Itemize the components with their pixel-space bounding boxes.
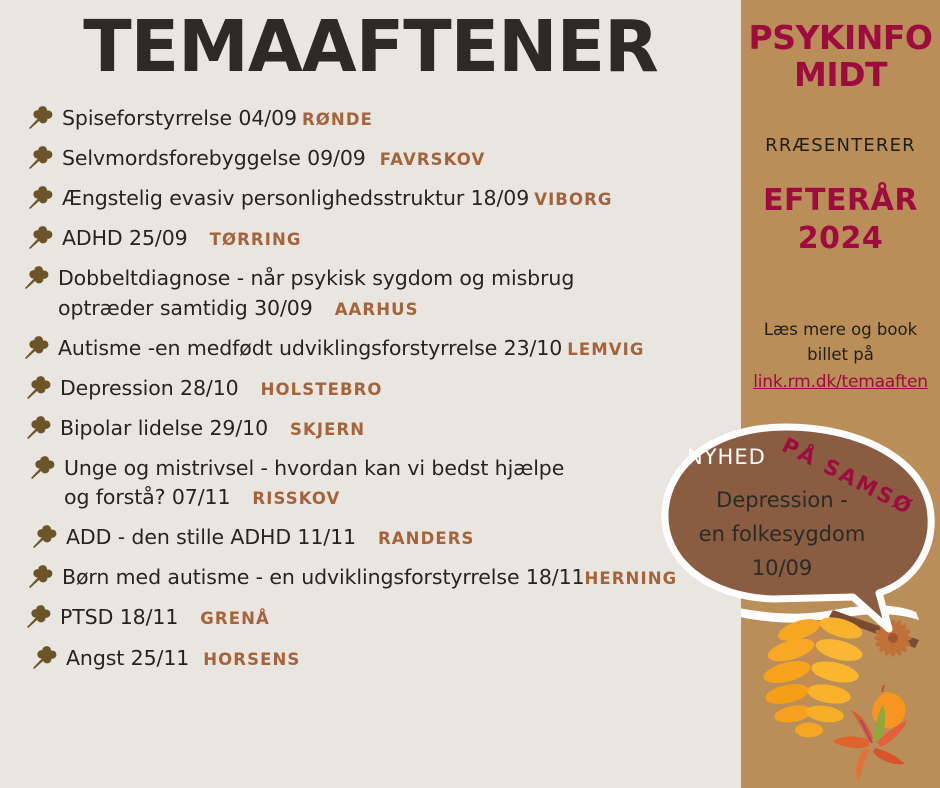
event-title: ADD - den stille ADHD 11/11: [66, 525, 356, 549]
event-title: PTSD 18/11: [60, 605, 178, 629]
pushpin-icon: [30, 523, 60, 549]
season-title: EFTERÅR 2024: [741, 182, 940, 257]
event-city: GRENÅ: [200, 609, 270, 628]
event-list-item[interactable]: Autisme -en medfødt udviklingsforstyrrel…: [22, 333, 741, 363]
event-title: Autisme -en medfødt udviklingsforstyrrel…: [58, 336, 562, 360]
event-title-continued: optræder samtidig 30/09: [58, 296, 313, 320]
event-text: Angst 25/11HORSENS: [66, 643, 300, 673]
event-title: Børn med autisme - en udviklingsforstyrr…: [62, 565, 584, 589]
pushpin-icon: [26, 563, 56, 589]
event-text: Dobbeltdiagnose - når psykisk sygdom og …: [58, 263, 574, 322]
pushpin-icon: [22, 334, 52, 360]
event-list-item[interactable]: PTSD 18/11GRENÅ: [24, 602, 741, 632]
booking-line-2: billet på: [807, 345, 874, 364]
brand-title: PSYKINFO MIDT: [741, 20, 940, 94]
event-title: Dobbeltdiagnose - når psykisk sygdom og …: [58, 266, 574, 290]
news-speech-bubble: NYHED Depression - en folkesygdom 10/09 …: [657, 421, 940, 646]
bubble-line-2: en folkesygdom: [667, 517, 897, 551]
booking-link[interactable]: link.rm.dk/temaaften: [747, 370, 934, 396]
event-text: ADHD 25/09TØRRING: [62, 223, 302, 253]
event-list-item[interactable]: ADHD 25/09TØRRING: [26, 223, 741, 253]
event-list-item[interactable]: Unge og mistrivsel - hvordan kan vi beds…: [28, 453, 741, 512]
season-label: EFTERÅR: [763, 183, 918, 218]
event-title-line-2: optræder samtidig 30/09AARHUS: [58, 294, 574, 323]
event-text: PTSD 18/11GRENÅ: [60, 602, 270, 632]
event-city: RØNDE: [302, 110, 373, 129]
pushpin-icon: [26, 144, 56, 170]
event-text: Autisme -en medfødt udviklingsforstyrrel…: [58, 333, 645, 363]
booking-line-1: Læs mere og book: [764, 320, 917, 339]
pushpin-icon: [24, 414, 54, 440]
bubble-line-3: 10/09: [667, 551, 897, 585]
event-text: Bipolar lidelse 29/10SKJERN: [60, 413, 365, 443]
event-city: LEMVIG: [567, 340, 644, 359]
brand-line-2: MIDT: [741, 57, 940, 94]
event-list-item[interactable]: Depression 28/10HOLSTEBRO: [24, 373, 741, 403]
bubble-body-text: Depression - en folkesygdom 10/09: [667, 483, 897, 585]
event-title: Spiseforstyrrelse 04/09: [62, 106, 297, 130]
event-city: HOLSTEBRO: [261, 380, 383, 399]
event-text: Ængstelig evasiv personlighedsstruktur 1…: [62, 183, 613, 213]
event-city: RISSKOV: [252, 489, 340, 508]
event-list-item[interactable]: ADD - den stille ADHD 11/11RANDERS: [30, 522, 741, 552]
booking-info: Læs mere og book billet på link.rm.dk/te…: [747, 318, 934, 395]
event-title: ADHD 25/09: [62, 226, 188, 250]
brand-line-1: PSYKINFO: [749, 18, 933, 57]
event-title-continued: og forstå? 07/11: [64, 485, 230, 509]
event-title: Depression 28/10: [60, 376, 239, 400]
pushpin-icon: [24, 374, 54, 400]
sidebar-panel: PSYKINFO MIDT RRÆSENTERER EFTERÅR 2024 L…: [741, 0, 940, 788]
pushpin-icon: [28, 454, 58, 480]
pushpin-icon: [22, 264, 52, 290]
event-city: RANDERS: [378, 529, 475, 548]
event-title-line-2: og forstå? 07/11RISSKOV: [64, 483, 564, 512]
pushpin-icon: [26, 104, 56, 130]
event-list-item[interactable]: Selvmordsforebyggelse 09/09FAVRSKOV: [26, 143, 741, 173]
event-title: Bipolar lidelse 29/10: [60, 416, 268, 440]
event-list-item[interactable]: Spiseforstyrrelse 04/09RØNDE: [26, 103, 741, 133]
page-title: TEMAAFTENER: [0, 11, 741, 82]
pushpin-icon: [30, 644, 60, 670]
event-city: TØRRING: [210, 230, 302, 249]
event-text: ADD - den stille ADHD 11/11RANDERS: [66, 522, 475, 552]
event-text: Selvmordsforebyggelse 09/09FAVRSKOV: [62, 143, 485, 173]
event-list-item[interactable]: Ængstelig evasiv personlighedsstruktur 1…: [26, 183, 741, 213]
event-city: FAVRSKOV: [380, 150, 486, 169]
event-text: Depression 28/10HOLSTEBRO: [60, 373, 383, 403]
event-list-item[interactable]: Børn med autisme - en udviklingsforstyrr…: [26, 562, 741, 592]
event-city: HORSENS: [203, 650, 300, 669]
event-title: Unge og mistrivsel - hvordan kan vi beds…: [64, 456, 564, 480]
event-list-item[interactable]: Bipolar lidelse 29/10SKJERN: [24, 413, 741, 443]
pushpin-icon: [26, 184, 56, 210]
presents-label: RRÆSENTERER: [741, 135, 940, 156]
poster-canvas: TEMAAFTENER Spiseforstyrrelse 04/09RØNDE…: [0, 0, 940, 788]
event-title: Selvmordsforebyggelse 09/09: [62, 146, 366, 170]
event-city: AARHUS: [335, 300, 419, 319]
news-badge: NYHED: [687, 445, 766, 469]
event-title: Ængstelig evasiv personlighedsstruktur 1…: [62, 186, 529, 210]
season-year: 2024: [741, 220, 940, 258]
event-text: Spiseforstyrrelse 04/09RØNDE: [62, 103, 373, 133]
event-text: Unge og mistrivsel - hvordan kan vi beds…: [64, 453, 564, 512]
pushpin-icon: [24, 603, 54, 629]
event-list: Spiseforstyrrelse 04/09RØNDESelvmordsfor…: [0, 103, 741, 683]
event-title: Angst 25/11: [66, 646, 189, 670]
event-text: Børn med autisme - en udviklingsforstyrr…: [62, 562, 677, 592]
event-list-item[interactable]: Dobbeltdiagnose - når psykisk sygdom og …: [22, 263, 741, 322]
event-city: SKJERN: [290, 420, 365, 439]
event-city: VIBORG: [534, 190, 612, 209]
event-list-item[interactable]: Angst 25/11HORSENS: [30, 643, 741, 673]
pushpin-icon: [26, 224, 56, 250]
